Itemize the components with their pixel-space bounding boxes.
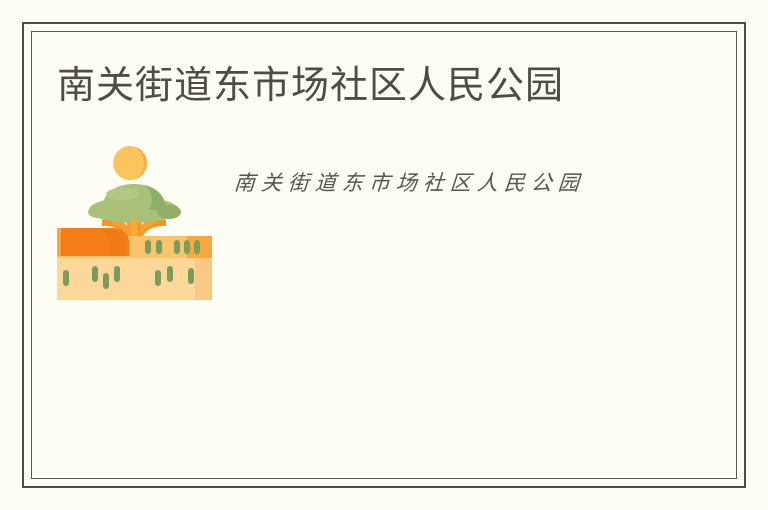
park-scene-illustration bbox=[57, 140, 212, 300]
tree-canopy bbox=[88, 184, 181, 223]
calligraphic-subtitle: 南关街道东市场社区人民公园 bbox=[233, 168, 586, 198]
terrace-roof bbox=[57, 228, 129, 256]
sun-icon bbox=[113, 146, 147, 180]
certificate-page: 南关街道东市场社区人民公园 南关街道东市场社区人民公园 bbox=[0, 0, 768, 510]
page-title: 南关街道东市场社区人民公园 bbox=[57, 60, 564, 112]
